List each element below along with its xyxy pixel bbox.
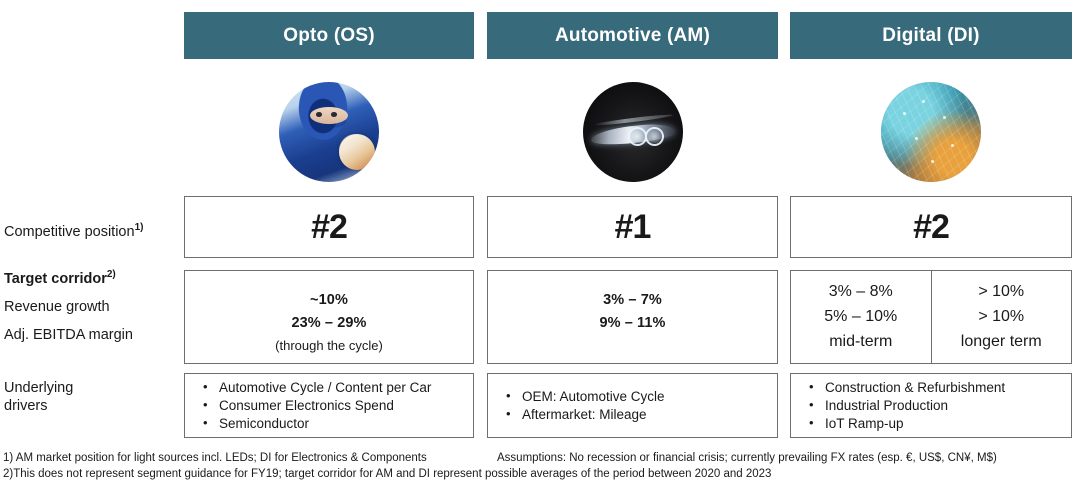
silicon-wafer xyxy=(339,134,375,170)
automotive-image-art xyxy=(583,82,683,182)
opto-image-art xyxy=(279,82,379,182)
list-item: IoT Ramp-up xyxy=(803,415,1067,433)
column-header-automotive: Automotive (AM) xyxy=(487,12,778,59)
underlying-drivers-automotive-list: OEM: Automotive Cycle Aftermarket: Milea… xyxy=(488,374,777,437)
list-item: OEM: Automotive Cycle xyxy=(500,388,773,406)
car-headlight-photo xyxy=(583,82,683,182)
column-header-automotive-label: Automotive (AM) xyxy=(555,25,710,47)
footnote-marker-1: 1) xyxy=(135,222,144,233)
footnote-one: 1) AM market position for light sources … xyxy=(3,452,427,464)
digital-longerterm-note: longer term xyxy=(961,333,1042,351)
underlying-drivers-cell-automotive: OEM: Automotive Cycle Aftermarket: Milea… xyxy=(487,373,778,438)
data-node-dot xyxy=(931,160,934,163)
target-corridor-automotive-values: 3% – 7% 9% – 11% xyxy=(488,271,777,384)
opto-corridor-note: (through the cycle) xyxy=(275,338,383,353)
list-item: Industrial Production xyxy=(803,397,1067,415)
target-corridor-digital-split: 3% – 8% 5% – 10% mid-term > 10% > 10% lo… xyxy=(791,271,1071,363)
row-label-target-corridor: Target corridor2) xyxy=(4,269,116,287)
digital-image-art xyxy=(881,82,981,182)
slide-canvas: Opto (OS) Automotive (AM) Digital (DI) xyxy=(0,0,1080,483)
row-label-competitive-position: Competitive position1) xyxy=(4,222,143,240)
competitive-position-cell-digital: #2 xyxy=(790,196,1072,258)
digital-longerterm-ebitda-margin-value: > 10% xyxy=(978,308,1024,326)
worker-eye-right xyxy=(331,112,337,117)
digital-longer-term-values: > 10% > 10% longer term xyxy=(931,271,1072,363)
data-node-dot xyxy=(903,112,906,115)
target-corridor-cell-digital: 3% – 8% 5% – 10% mid-term > 10% > 10% lo… xyxy=(790,270,1072,364)
column-header-opto-label: Opto (OS) xyxy=(283,25,375,47)
digital-longerterm-revenue-growth-value: > 10% xyxy=(978,283,1024,301)
data-node-dot xyxy=(915,137,918,140)
column-header-digital-label: Digital (DI) xyxy=(882,25,979,47)
target-corridor-cell-opto: ~10% 23% – 29% (through the cycle) xyxy=(184,270,474,364)
row-label-revenue-growth: Revenue growth xyxy=(4,299,110,315)
digital-city-data-photo xyxy=(881,82,981,182)
digital-midterm-note: mid-term xyxy=(829,333,892,351)
digital-midterm-ebitda-margin-value: 5% – 10% xyxy=(824,308,897,326)
data-node-dot xyxy=(943,116,946,119)
rank-value-digital: #2 xyxy=(791,197,1071,257)
list-item: Automotive Cycle / Content per Car xyxy=(197,379,469,397)
opto-revenue-growth-value: ~10% xyxy=(310,292,348,308)
column-header-digital: Digital (DI) xyxy=(790,12,1072,59)
list-item: Construction & Refurbishment xyxy=(803,379,1067,397)
competitive-position-cell-automotive: #1 xyxy=(487,196,778,258)
underlying-drivers-digital-list: Construction & Refurbishment Industrial … xyxy=(791,374,1071,437)
footnote-assumptions: Assumptions: No recession or financial c… xyxy=(497,452,997,464)
list-item: Consumer Electronics Spend xyxy=(197,397,469,415)
opto-ebitda-margin-value: 23% – 29% xyxy=(291,315,366,331)
underlying-drivers-cell-opto: Automotive Cycle / Content per Car Consu… xyxy=(184,373,474,438)
target-corridor-cell-automotive: 3% – 7% 9% – 11% xyxy=(487,270,778,364)
row-label-ebitda-margin: Adj. EBITDA margin xyxy=(4,327,133,343)
row-label-underlying-drivers-line1: Underlying xyxy=(4,380,73,396)
digital-mid-term-values: 3% – 8% 5% – 10% mid-term xyxy=(791,271,931,363)
rank-value-automotive: #1 xyxy=(488,197,777,257)
column-header-opto: Opto (OS) xyxy=(184,12,474,59)
row-label-target-corridor-text: Target corridor xyxy=(4,271,107,287)
underlying-drivers-opto-list: Automotive Cycle / Content per Car Consu… xyxy=(185,374,473,437)
list-item: Semiconductor xyxy=(197,415,469,433)
data-node-dot xyxy=(922,100,925,103)
digital-midterm-revenue-growth-value: 3% – 8% xyxy=(829,283,893,301)
automotive-revenue-growth-value: 3% – 7% xyxy=(603,292,662,308)
cleanroom-wafer-photo xyxy=(279,82,379,182)
footnote-two: 2)This does not represent segment guidan… xyxy=(3,468,771,480)
target-corridor-opto-values: ~10% 23% – 29% (through the cycle) xyxy=(185,271,473,384)
list-item: Aftermarket: Mileage xyxy=(500,406,773,424)
row-label-competitive-position-text: Competitive position xyxy=(4,224,135,240)
underlying-drivers-cell-digital: Construction & Refurbishment Industrial … xyxy=(790,373,1072,438)
footnote-marker-2: 2) xyxy=(107,269,116,280)
automotive-ebitda-margin-value: 9% – 11% xyxy=(599,315,665,331)
competitive-position-cell-opto: #2 xyxy=(184,196,474,258)
worker-eye-left xyxy=(316,112,322,117)
row-label-underlying-drivers-line2: drivers xyxy=(4,398,48,414)
rank-value-opto: #2 xyxy=(185,197,473,257)
data-node-dot xyxy=(951,144,954,147)
